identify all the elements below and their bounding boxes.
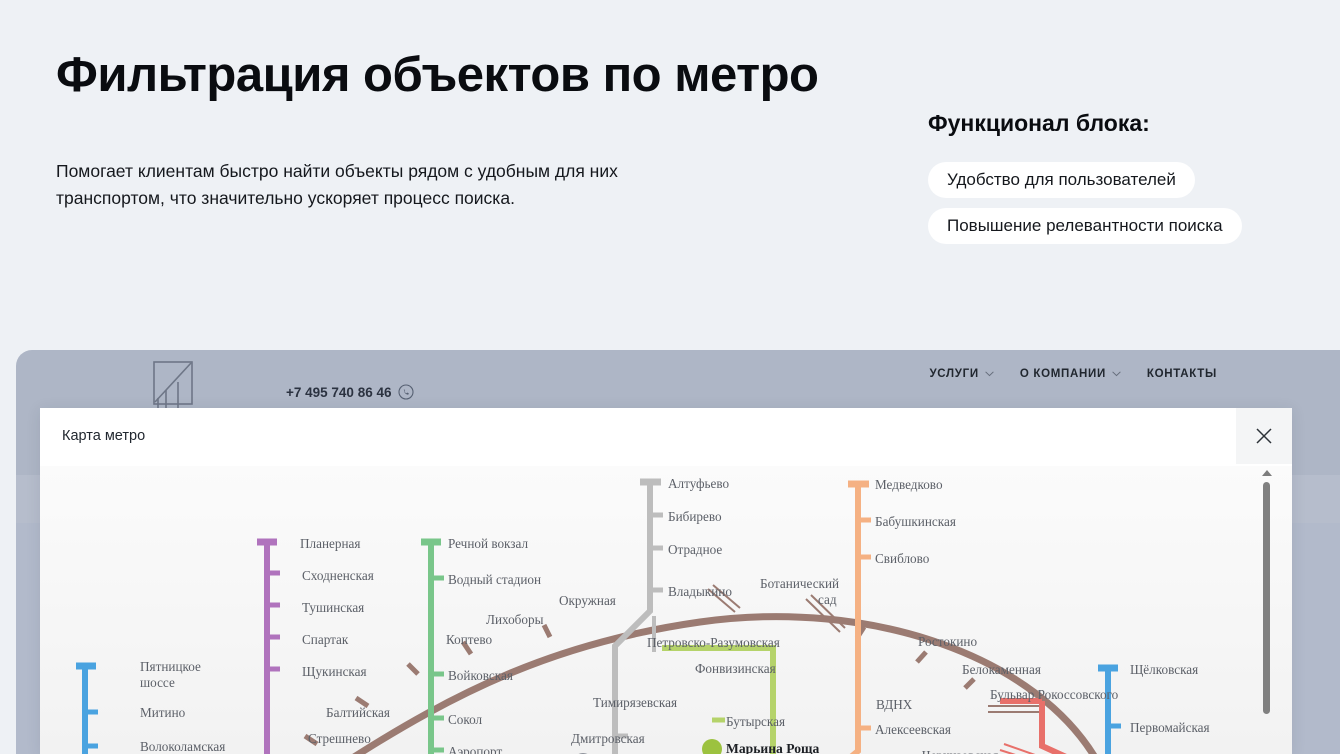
svg-text:Водный стадион: Водный стадион (448, 572, 541, 587)
svg-text:Митино: Митино (140, 705, 186, 720)
modal-title: Карта метро (62, 428, 145, 444)
modal-header: Карта метро (40, 408, 1292, 466)
svg-text:Тимирязевская: Тимирязевская (593, 695, 677, 710)
svg-text:Коптево: Коптево (446, 632, 493, 647)
nav-item-contacts[interactable]: КОНТАКТЫ (1147, 368, 1217, 380)
svg-text:Тушинская: Тушинская (302, 600, 364, 615)
svg-text:Первомайская: Первомайская (1130, 720, 1210, 735)
svg-text:Дмитровская: Дмитровская (571, 731, 645, 746)
site-logo-icon[interactable] (152, 360, 196, 408)
svg-text:Бабушкинская: Бабушкинская (875, 514, 956, 529)
line-gray[interactable] (572, 482, 663, 754)
svg-text:Окружная: Окружная (559, 593, 616, 608)
close-button[interactable] (1236, 408, 1292, 464)
svg-text:Балтийская: Балтийская (326, 705, 390, 720)
metro-map-diagram[interactable]: .lbl { font-family: "Liberation Serif", … (40, 466, 1292, 754)
svg-text:Фонвизинская: Фонвизинская (695, 661, 776, 676)
svg-text:Алтуфьево: Алтуфьево (668, 476, 730, 491)
feature-pill-relevance[interactable]: Повышение релевантности поиска (928, 208, 1242, 244)
station-labels: Планерная Сходненская Тушинская Спартак … (140, 476, 1210, 754)
svg-text:Пятницкое: Пятницкое (140, 659, 201, 674)
nav-item-about[interactable]: О КОМПАНИИ (1020, 368, 1121, 380)
svg-text:Сходненская: Сходненская (302, 568, 374, 583)
svg-text:Волоколамская: Волоколамская (140, 739, 225, 754)
svg-text:Свиблово: Свиблово (875, 551, 930, 566)
nav-item-services[interactable]: УСЛУГИ (929, 368, 993, 380)
svg-text:Бибирево: Бибирево (668, 509, 722, 524)
svg-text:Марьина Роща: Марьина Роща (726, 741, 819, 754)
features-title: Функционал блока: (928, 110, 1150, 137)
svg-text:Стрешнево: Стрешнево (308, 731, 371, 746)
line-blue-west[interactable] (76, 666, 98, 754)
scrollbar-thumb[interactable] (1263, 482, 1270, 714)
nav-item-label: УСЛУГИ (929, 368, 978, 380)
svg-text:Ботанический: Ботанический (760, 576, 839, 591)
svg-text:Спартак: Спартак (302, 632, 349, 647)
map-scrollbar[interactable] (1260, 466, 1274, 754)
svg-text:Владыкино: Владыкино (668, 584, 732, 599)
page-title: Фильтрация объектов по метро (56, 48, 818, 103)
svg-text:Петровско-Разумовская: Петровско-Разумовская (647, 635, 780, 650)
header-phone[interactable]: +7 495 740 86 46 (286, 384, 414, 400)
whatsapp-icon[interactable] (398, 384, 414, 400)
svg-text:Отрадное: Отрадное (668, 542, 722, 557)
metro-map-modal: Карта метро .lbl { font-family: "Liberat… (40, 408, 1292, 754)
page-root: Фильтрация объектов по метро Помогает кл… (0, 0, 1340, 754)
svg-text:Сокол: Сокол (448, 712, 483, 727)
svg-text:ВДНХ: ВДНХ (876, 697, 913, 712)
svg-text:Белокаменная: Белокаменная (962, 662, 1041, 677)
nav-item-label: КОНТАКТЫ (1147, 368, 1217, 380)
chevron-down-icon (985, 371, 994, 377)
svg-text:Планерная: Планерная (300, 536, 360, 551)
svg-text:Ростокино: Ростокино (918, 634, 977, 649)
svg-text:Щукинская: Щукинская (302, 664, 367, 679)
svg-text:Аэропорт: Аэропорт (448, 744, 502, 754)
close-icon (1254, 426, 1274, 446)
line-purple[interactable] (257, 542, 280, 754)
page-description: Помогает клиентам быстро найти объекты р… (56, 158, 656, 211)
chevron-down-icon (1112, 371, 1121, 377)
svg-text:Черкизовская: Черкизовская (922, 748, 998, 754)
feature-pill-usability[interactable]: Удобство для пользователей (928, 162, 1195, 198)
svg-text:Лихоборы: Лихоборы (486, 612, 544, 627)
scroll-up-arrow-icon[interactable] (1262, 470, 1272, 476)
svg-text:шоссе: шоссе (140, 675, 175, 690)
svg-text:Войковская: Войковская (448, 668, 513, 683)
nav-item-label: О КОМПАНИИ (1020, 368, 1106, 380)
phone-number: +7 495 740 86 46 (286, 385, 391, 400)
svg-text:Щёлковская: Щёлковская (1130, 662, 1198, 677)
svg-text:Алексеевская: Алексеевская (875, 722, 951, 737)
svg-text:Бутырская: Бутырская (726, 714, 785, 729)
svg-text:Бульвар Рокоссовского: Бульвар Рокоссовского (990, 687, 1119, 702)
metro-map-canvas[interactable]: .lbl { font-family: "Liberation Serif", … (40, 466, 1292, 754)
line-green[interactable] (421, 542, 444, 754)
svg-text:Речной вокзал: Речной вокзал (448, 536, 528, 551)
line-blue-east[interactable] (1098, 668, 1121, 754)
svg-text:Медведково: Медведково (875, 477, 943, 492)
site-nav: УСЛУГИ О КОМПАНИИ КОНТАКТЫ (929, 368, 1217, 380)
svg-text:сад: сад (818, 592, 837, 607)
